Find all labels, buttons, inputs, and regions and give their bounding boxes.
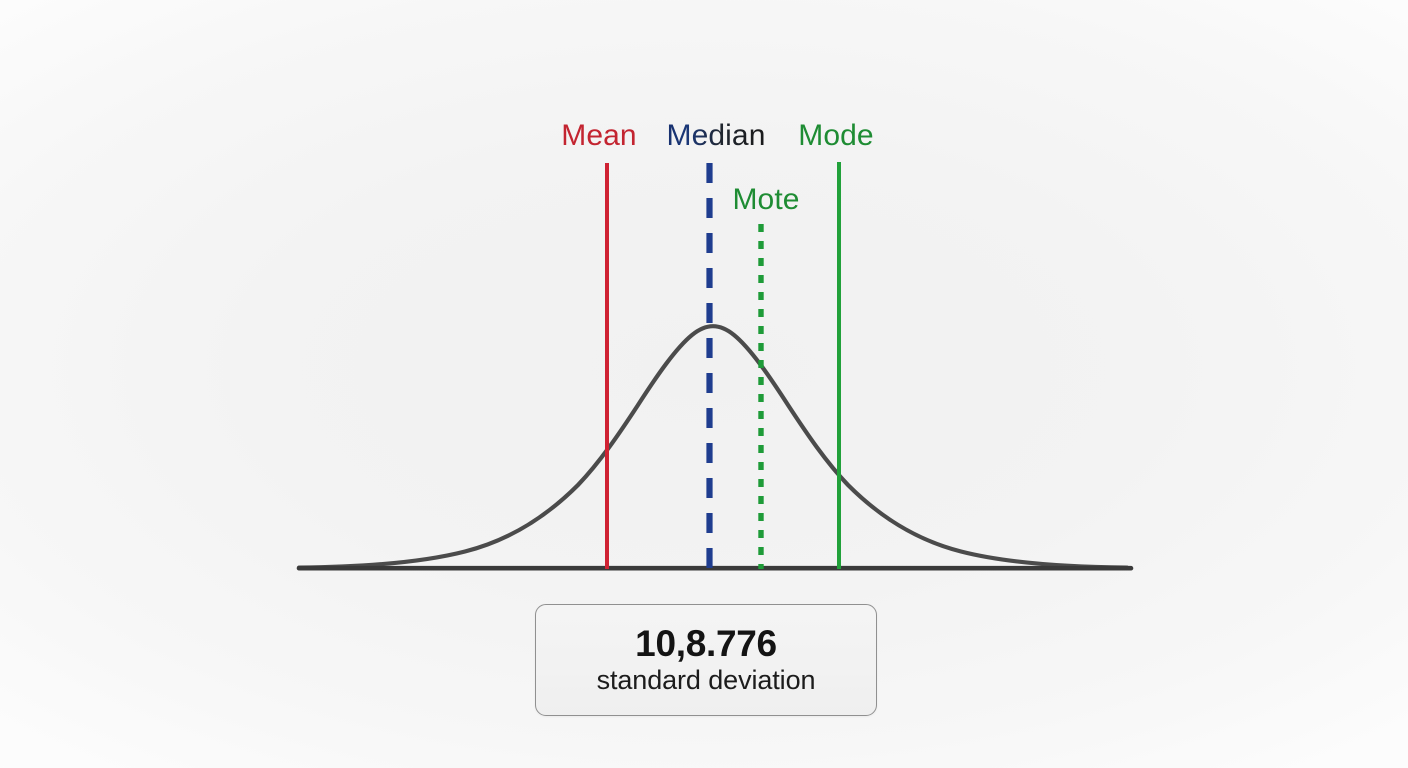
figure-canvas: Mean Median Mode Mote 10,8.776 standard … [0,0,1408,768]
median-label: Median [667,121,766,151]
standard-deviation-card: 10,8.776 standard deviation [535,604,877,716]
standard-deviation-value: 10,8.776 [635,625,777,664]
bell-curve-path [299,326,1127,567]
mode-label: Mode [798,121,873,151]
standard-deviation-caption: standard deviation [597,666,816,696]
mote-label: Mote [732,185,799,215]
mean-label: Mean [561,121,636,151]
